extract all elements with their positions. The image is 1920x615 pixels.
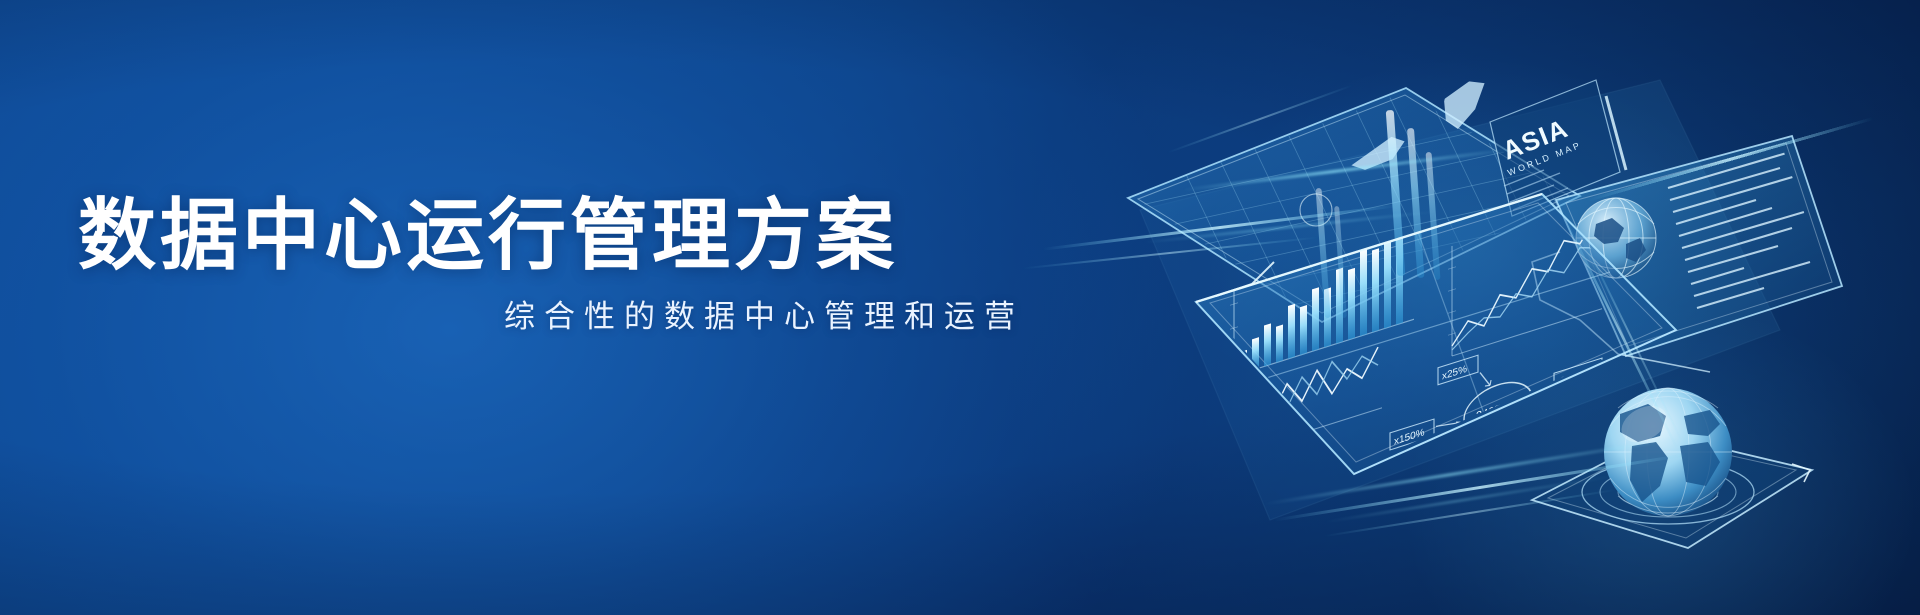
hologram-illustration: ASIA WORLD MAP [1020, 0, 1920, 615]
flow-badge-bottom: 25% [1476, 452, 1498, 471]
banner-copy: 数据中心运行管理方案 综合性的数据中心管理和运营 [78, 196, 1038, 334]
page-subtitle: 综合性的数据中心管理和运营 [78, 300, 1038, 334]
hologram-vector-art: ASIA WORLD MAP [1020, 0, 1920, 615]
page-title: 数据中心运行管理方案 [78, 196, 1038, 274]
globe-platform [1532, 388, 1812, 548]
globe-3d [1604, 388, 1732, 516]
hero-banner: 数据中心运行管理方案 综合性的数据中心管理和运营 [0, 0, 1920, 615]
